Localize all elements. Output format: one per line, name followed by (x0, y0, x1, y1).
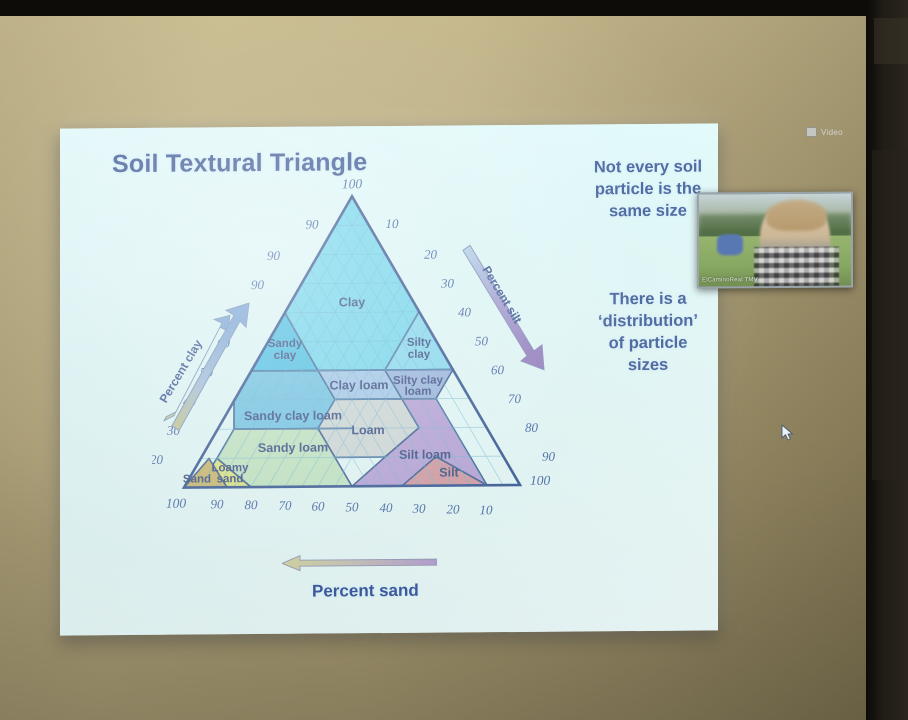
ceiling-dark-band (0, 0, 908, 16)
label-clay-loam: Clay loam (329, 378, 388, 392)
presentation-slide[interactable]: Soil Textural Triangle Not every soil pa… (60, 123, 718, 635)
tick-labels-apex: 100 (342, 176, 362, 191)
tick-right-0: 20 (424, 247, 437, 262)
tick-right-1: 30 (440, 275, 454, 290)
room-right-dark-area (866, 0, 908, 720)
label-loam: Loam (351, 423, 384, 437)
tick-bottom-0: 100 (166, 496, 186, 511)
label-silty-clay-1: Silty (407, 337, 432, 349)
tick-right-7: 90 (542, 449, 555, 464)
tick-right-2: 40 (458, 304, 471, 319)
tick-bottom-4: 60 (312, 499, 325, 514)
tick-bottom-2: 80 (245, 497, 258, 512)
tick-bottom-3: 70 (279, 498, 292, 513)
label-sandy-clay-1: Sandy (268, 338, 303, 350)
soil-textural-triangle-chart: 100 90 10 90 90 70 60 50 40 30 20 (152, 172, 592, 575)
webcam-person (760, 203, 830, 286)
tick-left-1: 90 (251, 277, 264, 292)
webcam-plaid-shirt (754, 247, 839, 288)
webcam-person-hair (766, 199, 827, 231)
tick-upper-left: 90 (306, 217, 319, 232)
tick-bottom-8: 20 (447, 501, 460, 516)
tick-bottom-5: 50 (346, 499, 359, 514)
webcam-caption: ElCaminoReal TMV (702, 277, 758, 283)
video-chip[interactable]: Video (806, 127, 843, 137)
mouse-cursor (781, 424, 794, 441)
label-silt: Silt (439, 465, 459, 479)
tick-left-0: 90 (267, 248, 280, 263)
label-silty-clay-loam-2: loam (405, 386, 432, 398)
webcam-video-overlay[interactable]: ElCaminoReal TMV (697, 191, 853, 288)
webcam-grass (699, 236, 851, 287)
tick-bottom-9: 10 (480, 502, 493, 517)
room-background: Soil Textural Triangle Not every soil pa… (0, 0, 908, 720)
video-chip-label: Video (821, 128, 843, 137)
tick-apex: 100 (342, 176, 362, 191)
percent-sand-arrow (282, 554, 437, 572)
tick-bottom-1: 90 (211, 496, 224, 511)
wall-panel-lower (872, 150, 908, 480)
tick-bottom-7: 30 (412, 501, 426, 516)
tick-upper-right: 10 (386, 216, 399, 231)
tick-right-3: 50 (475, 333, 488, 348)
label-silty-clay-2: clay (408, 349, 431, 361)
webcam-sky (699, 193, 851, 229)
label-sandy-clay-2: clay (274, 350, 297, 362)
label-loamy-sand-2: sand (217, 473, 244, 485)
tick-left-7: 20 (152, 452, 164, 467)
label-silt-loam: Silt loam (399, 448, 451, 462)
label-clay: Clay (339, 295, 365, 309)
tick-bottom-6: 40 (380, 500, 393, 515)
tick-right-4: 60 (491, 362, 504, 377)
tick-right-5: 70 (508, 391, 521, 406)
percent-silt-caption: Percent silt (479, 264, 524, 327)
tick-right-corner: 100 (530, 473, 550, 488)
webcam-blue-object (717, 235, 743, 255)
video-icon (806, 127, 817, 137)
percent-sand-caption: Percent sand (312, 581, 419, 602)
ternary-svg: 100 90 10 90 90 70 60 50 40 30 20 (152, 172, 592, 575)
tick-labels-bottom-axis: 100 90 80 70 60 50 40 30 20 10 (166, 493, 493, 520)
label-sand: Sand (183, 473, 211, 485)
label-sandy-loam: Sandy loam (258, 440, 328, 455)
wall-panel-upper (874, 18, 908, 64)
label-sandy-clay-loam: Sandy clay loam (244, 408, 342, 423)
tick-right-6: 80 (525, 420, 538, 435)
webcam-treeline (699, 214, 851, 239)
